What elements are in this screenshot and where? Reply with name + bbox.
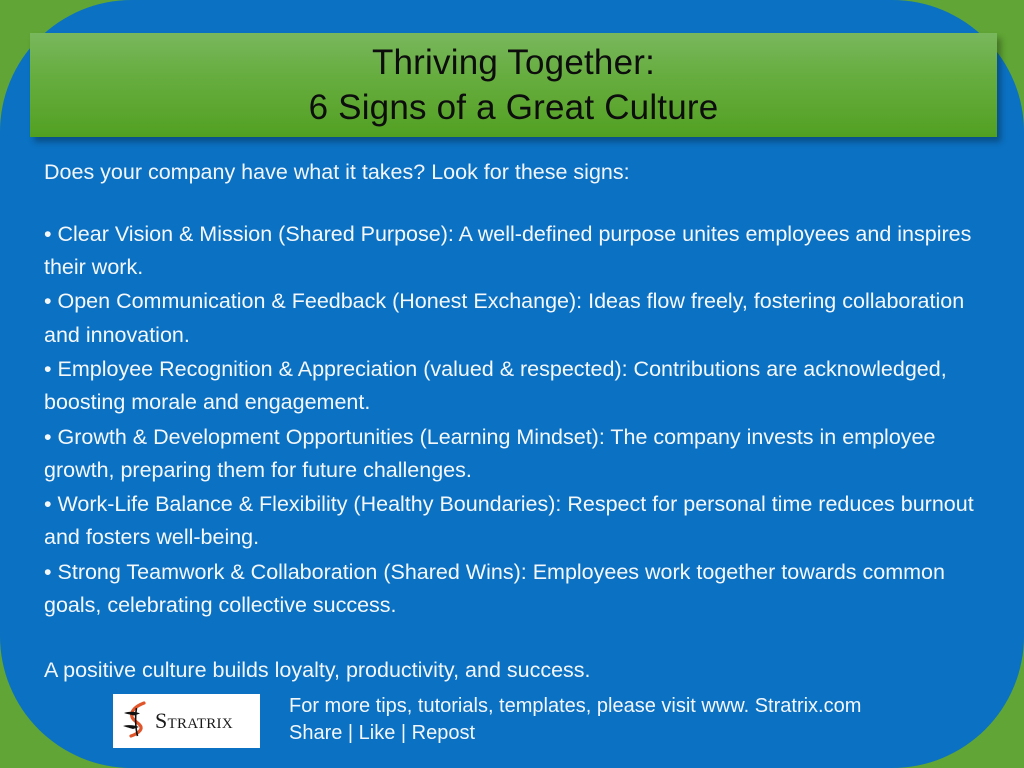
stratrix-swoosh-icon [120,700,154,742]
slide-canvas: Thriving Together: 6 Signs of a Great Cu… [0,0,1024,768]
list-item: • Work-Life Balance & Flexibility (Healt… [44,488,1000,555]
list-item: • Open Communication & Feedback (Honest … [44,285,1000,352]
list-item: • Strong Teamwork & Collaboration (Share… [44,556,1000,623]
signs-list: • Clear Vision & Mission (Shared Purpose… [44,218,1000,623]
list-item: • Growth & Development Opportunities (Le… [44,421,1000,488]
footer-visit-line: For more tips, tutorials, templates, ple… [289,693,861,720]
list-item: • Employee Recognition & Appreciation (v… [44,353,1000,420]
closing-statement: A positive culture builds loyalty, produ… [44,656,1000,686]
slide-footer: Stratrix For more tips, tutorials, templ… [44,692,984,758]
lead-question: Does your company have what it takes? Lo… [44,158,1000,188]
slide-title-line-2: 6 Signs of a Great Culture [309,85,719,131]
slide-title-line-1: Thriving Together: [372,40,655,86]
slide-body: Does your company have what it takes? Lo… [44,158,1000,686]
footer-share-line: Share | Like | Repost [289,720,861,747]
footer-text-block: For more tips, tutorials, templates, ple… [289,693,861,748]
stratrix-wordmark: Stratrix [155,710,233,732]
stratrix-logo: Stratrix [113,694,260,748]
list-item: • Clear Vision & Mission (Shared Purpose… [44,218,1000,285]
slide-title-banner: Thriving Together: 6 Signs of a Great Cu… [30,33,997,137]
